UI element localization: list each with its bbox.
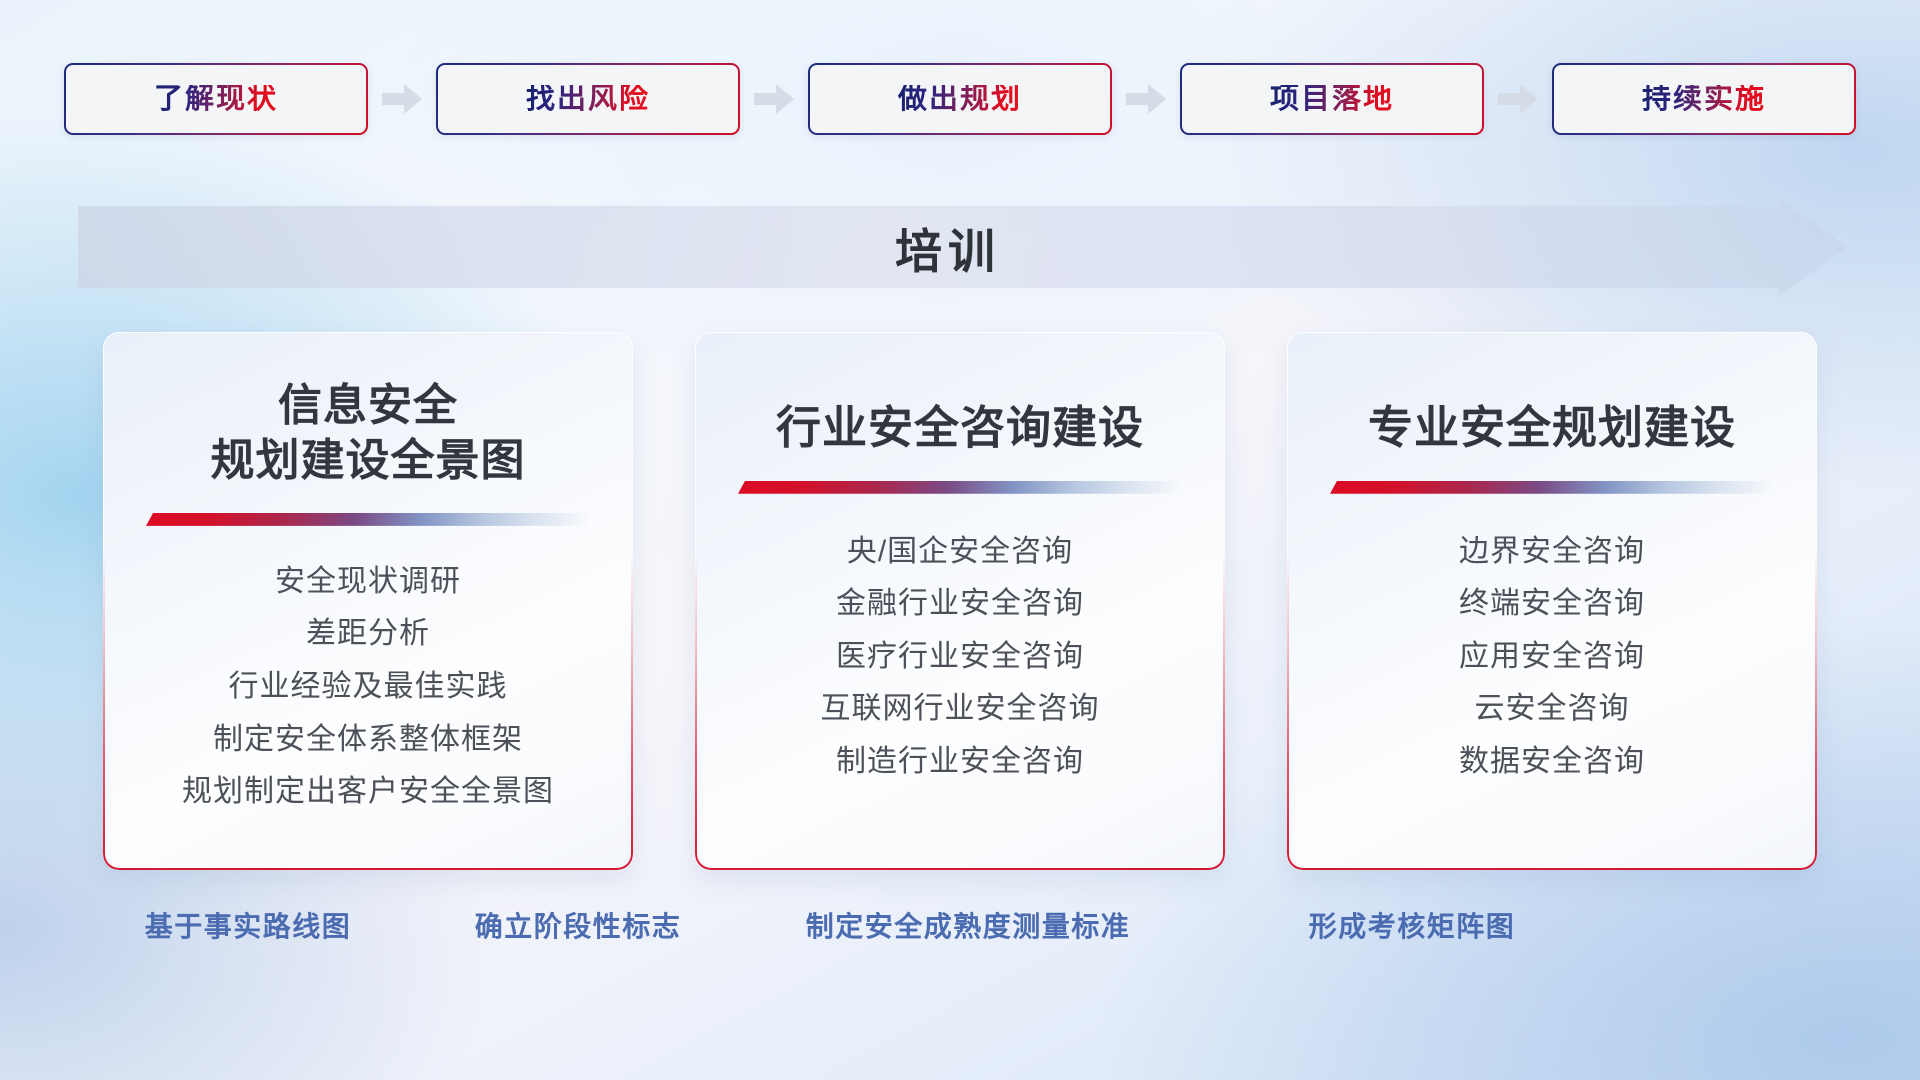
card-divider-3 — [1330, 481, 1774, 494]
footer-label-3: 制定安全成熟度测量标准 — [806, 905, 1131, 945]
step-label-1: 了解现状 — [154, 85, 278, 114]
list-item: 制定安全体系整体框架 — [213, 716, 523, 765]
list-item: 差距分析 — [306, 610, 430, 659]
list-item: 规划制定出客户安全全景图 — [182, 768, 554, 817]
step-connector-arrow-1 — [368, 60, 436, 138]
card-title-1: 信息安全 规划建设全景图 — [211, 378, 526, 489]
card-title-3: 专业安全规划建设 — [1368, 378, 1736, 457]
step-box-2[interactable]: 找出风险 — [436, 63, 740, 135]
card-list-2: 央/国企安全咨询 金融行业安全咨询 医疗行业安全咨询 互联网行业安全咨询 制造行… — [821, 528, 1100, 787]
card-divider-2 — [738, 481, 1182, 494]
list-item: 互联网行业安全咨询 — [821, 685, 1100, 734]
list-item: 金融行业安全咨询 — [836, 580, 1084, 629]
card-professional-planning[interactable]: 专业安全规划建设 边界安全咨询 终端安全咨询 应用安全咨询 云安全咨询 数据安全… — [1287, 332, 1817, 870]
list-item: 央/国企安全咨询 — [847, 528, 1073, 577]
card-industry-consulting[interactable]: 行业安全咨询建设 央/国企安全咨询 金融行业安全咨询 医疗行业安全咨询 互联网行… — [695, 332, 1225, 870]
step-connector-arrow-3 — [1112, 60, 1180, 138]
step-box-3[interactable]: 做出规划 — [808, 63, 1112, 135]
slide-canvas: 了解现状 找出风险 做出规划 项目落地 — [0, 0, 1920, 1080]
step-box-4[interactable]: 项目落地 — [1180, 63, 1484, 135]
step-connector-arrow-4 — [1484, 60, 1552, 138]
card-divider-1 — [146, 513, 590, 526]
list-item: 边界安全咨询 — [1459, 528, 1645, 577]
list-item: 安全现状调研 — [275, 558, 461, 607]
step-label-5: 持续实施 — [1642, 85, 1766, 114]
process-step-row: 了解现状 找出风险 做出规划 项目落地 — [0, 60, 1920, 138]
step-box-1[interactable]: 了解现状 — [64, 63, 368, 135]
card-panorama[interactable]: 信息安全 规划建设全景图 安全现状调研 差距分析 行业经验及最佳实践 制定安全体… — [103, 332, 633, 870]
training-banner-arrow: 培训 — [78, 198, 1848, 296]
step-label-2: 找出风险 — [526, 85, 650, 114]
step-connector-arrow-2 — [740, 60, 808, 138]
card-list-3: 边界安全咨询 终端安全咨询 应用安全咨询 云安全咨询 数据安全咨询 — [1459, 528, 1645, 787]
card-title-2: 行业安全咨询建设 — [776, 378, 1144, 457]
card-list-1: 安全现状调研 差距分析 行业经验及最佳实践 制定安全体系整体框架 规划制定出客户… — [182, 558, 554, 817]
list-item: 应用安全咨询 — [1459, 633, 1645, 682]
footer-label-1: 基于事实路线图 — [145, 905, 352, 945]
list-item: 数据安全咨询 — [1459, 738, 1645, 787]
footer-label-2: 确立阶段性标志 — [475, 905, 682, 945]
list-item: 医疗行业安全咨询 — [836, 633, 1084, 682]
list-item: 云安全咨询 — [1475, 685, 1630, 734]
footer-label-row: 基于事实路线图 确立阶段性标志 制定安全成熟度测量标准 形成考核矩阵图 — [0, 905, 1920, 965]
footer-label-4: 形成考核矩阵图 — [1309, 905, 1516, 945]
card-row: 信息安全 规划建设全景图 安全现状调研 差距分析 行业经验及最佳实践 制定安全体… — [0, 332, 1920, 870]
banner-caption: 培训 — [78, 198, 1848, 296]
list-item: 终端安全咨询 — [1459, 580, 1645, 629]
step-box-5[interactable]: 持续实施 — [1552, 63, 1856, 135]
step-label-4: 项目落地 — [1270, 85, 1394, 114]
list-item: 行业经验及最佳实践 — [229, 663, 508, 712]
list-item: 制造行业安全咨询 — [836, 738, 1084, 787]
step-label-3: 做出规划 — [898, 85, 1022, 114]
